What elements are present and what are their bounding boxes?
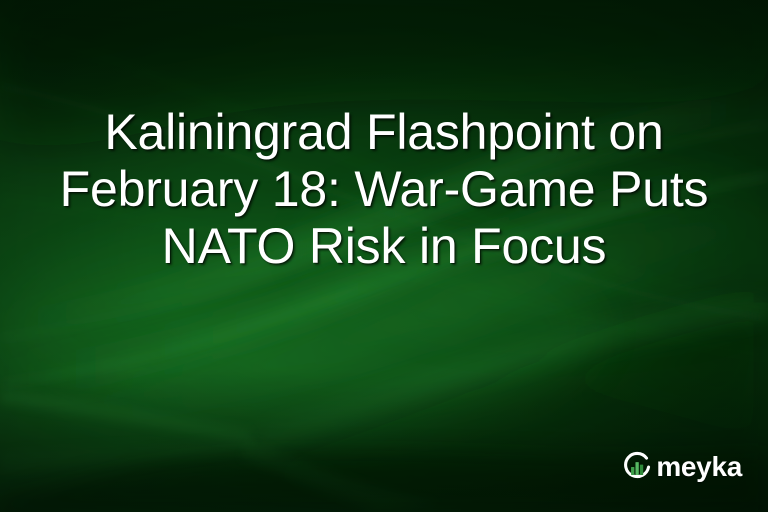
brand-name: meyka: [656, 453, 742, 481]
share-banner-card: Kaliningrad Flashpoint on February 18: W…: [0, 0, 768, 512]
page-title: Kaliningrad Flashpoint on February 18: W…: [60, 104, 709, 275]
meyka-circular-bar-chart-icon: [620, 450, 654, 484]
headline-block: Kaliningrad Flashpoint on February 18: W…: [0, 104, 768, 275]
brand-logo[interactable]: meyka: [620, 448, 742, 486]
